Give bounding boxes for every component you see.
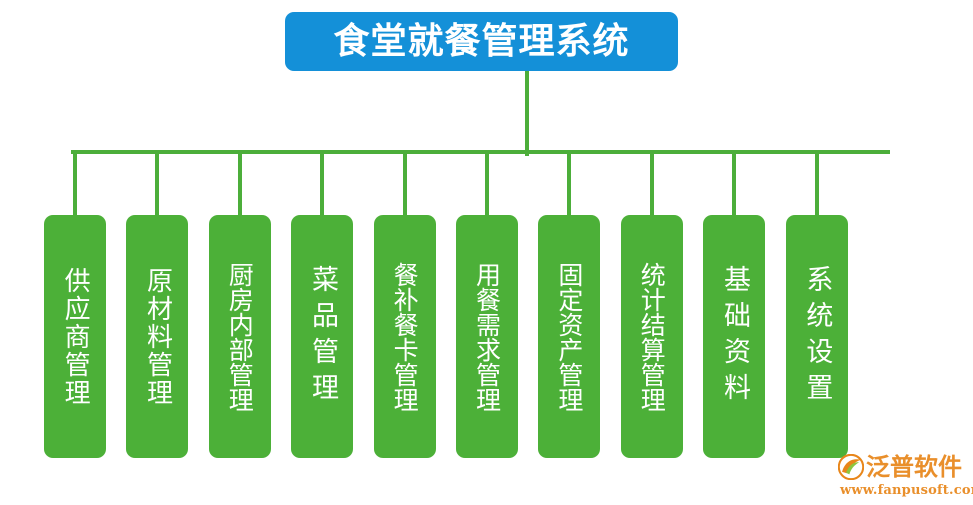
connector-drop-8 [650, 152, 654, 218]
module-node-9[interactable]: 基础资料 [703, 215, 765, 458]
module-node-label: 厨房内部管理 [223, 262, 256, 412]
module-node-4[interactable]: 菜品管理 [291, 215, 353, 458]
module-node-3[interactable]: 厨房内部管理 [209, 215, 271, 458]
module-node-label: 原材料管理 [140, 267, 174, 407]
root-node-system-title[interactable]: 食堂就餐管理系统 [285, 12, 678, 71]
root-node-label: 食堂就餐管理系统 [333, 24, 629, 60]
module-node-label: 固定资产管理 [553, 262, 586, 412]
module-node-10[interactable]: 系统设置 [786, 215, 848, 458]
module-node-1[interactable]: 供应商管理 [44, 215, 106, 458]
fanpu-swoosh-logo-icon [838, 454, 864, 480]
module-node-8[interactable]: 统计结算管理 [621, 215, 683, 458]
connector-drop-9 [732, 152, 736, 218]
connector-drop-6 [485, 152, 489, 218]
module-node-6[interactable]: 用餐需求管理 [456, 215, 518, 458]
connector-drop-2 [155, 152, 159, 218]
watermark-branding: 泛普软件 www.fanpusoft.com [838, 452, 970, 502]
connector-trunk-vertical [525, 71, 529, 156]
module-node-label: 系统设置 [799, 265, 835, 409]
module-node-label: 供应商管理 [58, 267, 92, 407]
connector-horizontal-bus [71, 150, 890, 154]
connector-drop-1 [73, 152, 77, 218]
connector-drop-3 [238, 152, 242, 218]
connector-drop-7 [567, 152, 571, 218]
module-node-label: 基础资料 [716, 265, 752, 409]
watermark-brand-text: 泛普软件 [866, 455, 962, 479]
module-node-label: 用餐需求管理 [471, 262, 504, 412]
connector-drop-10 [815, 152, 819, 218]
module-node-label: 餐补餐卡管理 [388, 262, 421, 412]
watermark-url-text: www.fanpusoft.com [840, 483, 970, 498]
connector-drop-4 [320, 152, 324, 218]
module-node-5[interactable]: 餐补餐卡管理 [374, 215, 436, 458]
module-node-label: 统计结算管理 [635, 262, 668, 412]
module-node-2[interactable]: 原材料管理 [126, 215, 188, 458]
connector-drop-5 [403, 152, 407, 218]
module-node-label: 菜品管理 [304, 265, 340, 409]
module-node-7[interactable]: 固定资产管理 [538, 215, 600, 458]
org-chart-diagram: 食堂就餐管理系统 供应商管理原材料管理厨房内部管理菜品管理餐补餐卡管理用餐需求管… [0, 0, 973, 505]
